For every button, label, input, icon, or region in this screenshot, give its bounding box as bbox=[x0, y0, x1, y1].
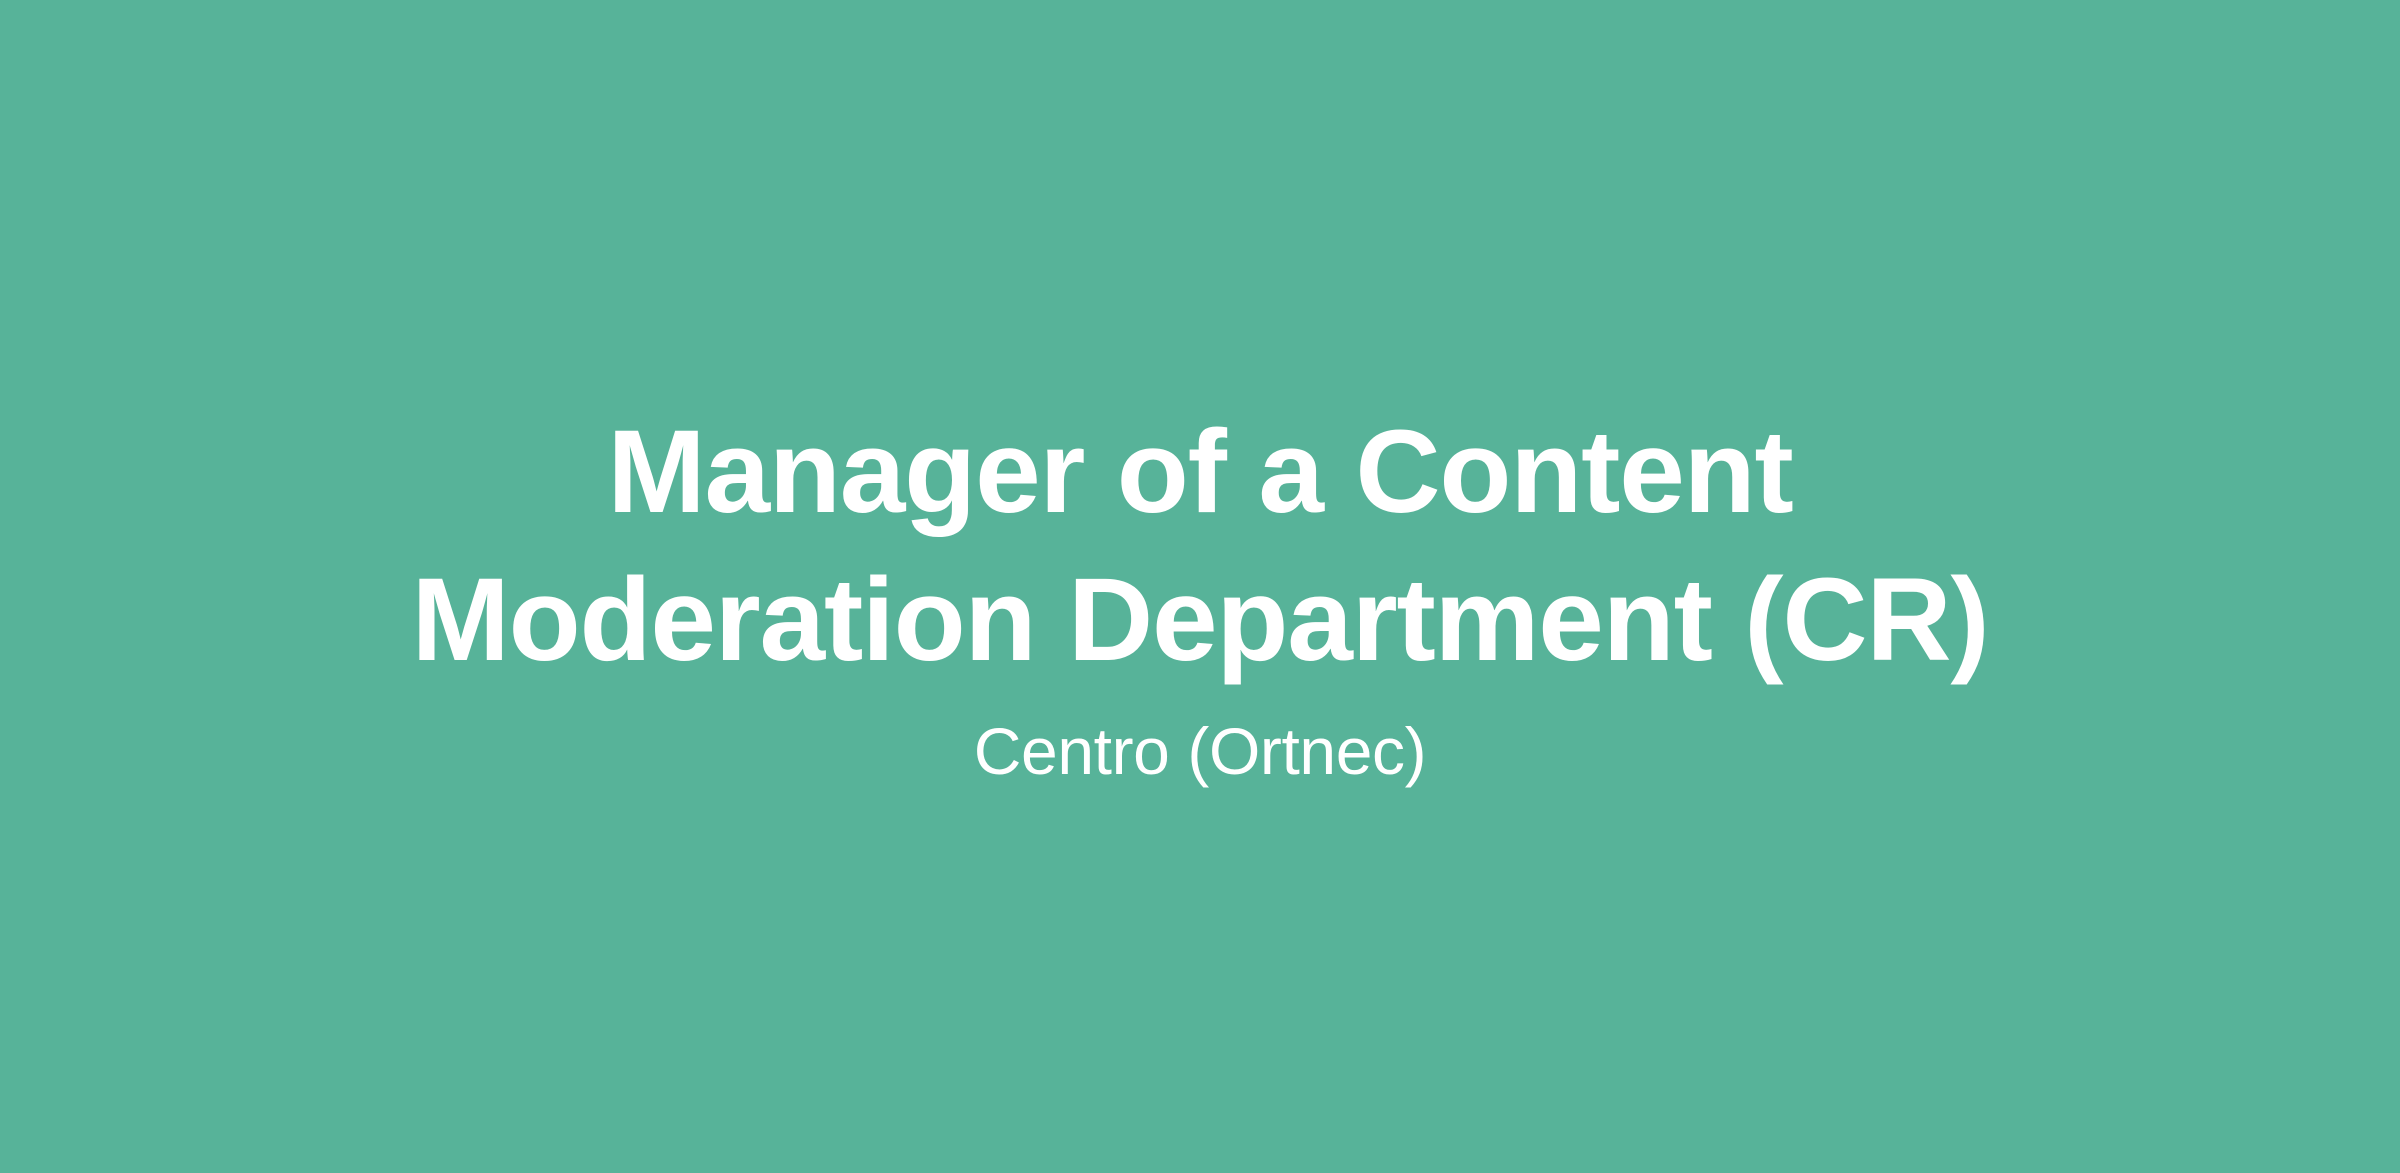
hero-text-block: Manager of a Content Moderation Departme… bbox=[0, 398, 2400, 792]
job-posting-banner: Manager of a Content Moderation Departme… bbox=[0, 0, 2400, 1173]
page-title: Manager of a Content Moderation Departme… bbox=[350, 398, 2050, 694]
company-subtitle: Centro (Ortnec) bbox=[974, 694, 1426, 792]
